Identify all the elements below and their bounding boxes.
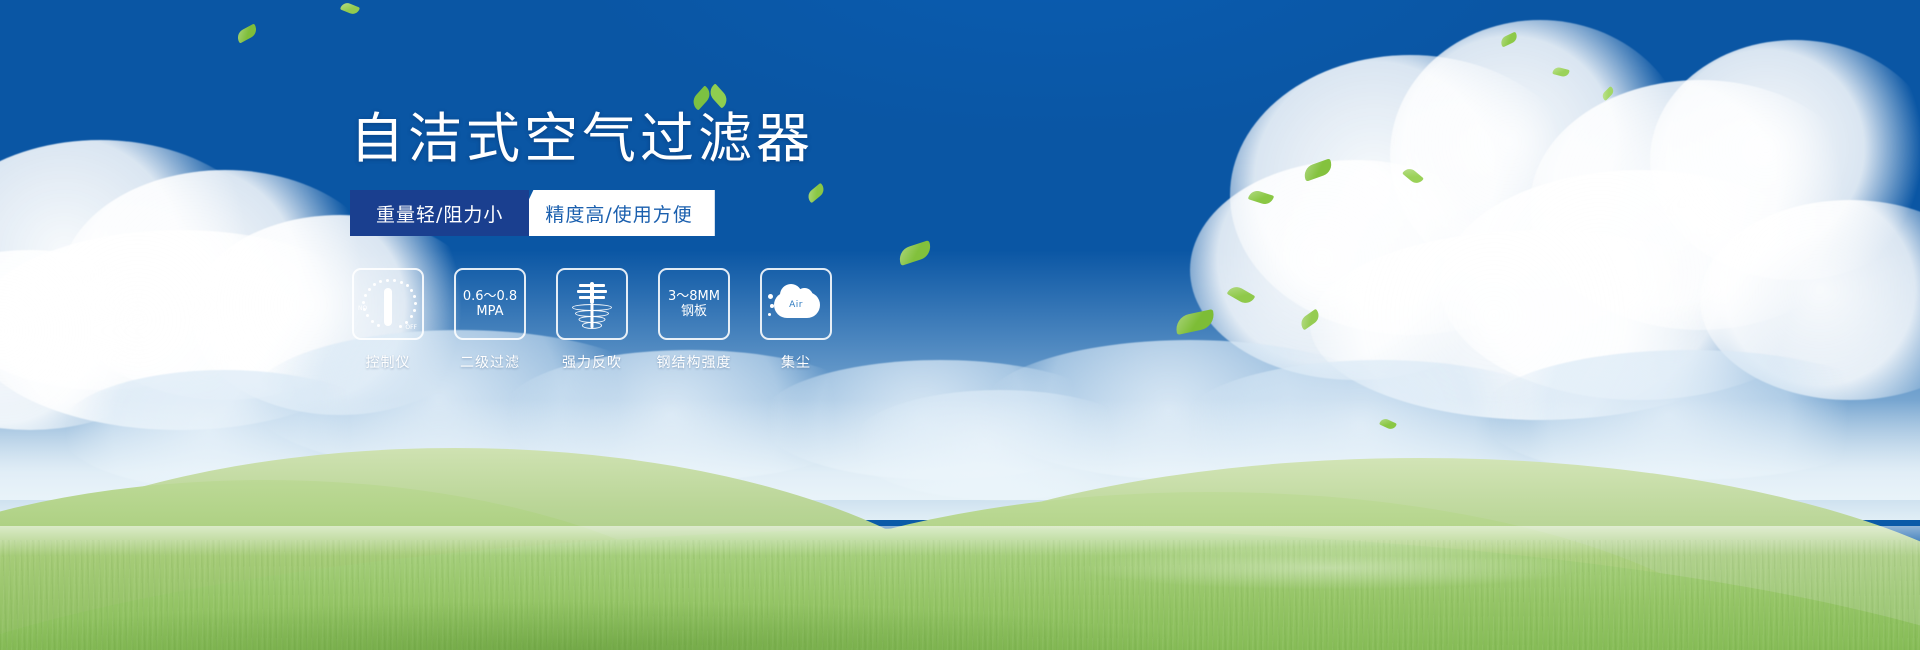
pressure-line-1: 0.6～0.8	[463, 289, 517, 304]
feature-box-blowback	[556, 268, 628, 340]
dial-label-off: OFF	[405, 324, 417, 331]
feature-box-steel: 3～8MM 钢板	[658, 268, 730, 340]
title-leaf-right-icon	[706, 83, 730, 108]
feature-label-steel: 钢结构强度	[657, 352, 732, 372]
page-title: 自洁式空气过滤器	[350, 112, 814, 166]
feature-box-dustcollection: Air	[760, 268, 832, 340]
feature-label-blowback: 强力反吹	[562, 352, 622, 372]
tab-lightweight-lowresistance[interactable]: 重量轻/阻力小	[350, 190, 529, 236]
feature-icon-row: NO OFF 控制仪 0.6～0.8 MPA 二级过滤	[352, 268, 832, 372]
blowback-icon	[566, 278, 618, 330]
feature-label-dustcollection: 集尘	[781, 352, 811, 372]
feature-item-dustcollection[interactable]: Air 集尘	[760, 268, 832, 372]
feature-box-control: NO OFF	[352, 268, 424, 340]
control-dial-icon: NO OFF	[359, 275, 417, 333]
feature-item-filtration[interactable]: 0.6～0.8 MPA 二级过滤	[454, 268, 526, 372]
steel-plate-text-icon: 3～8MM 钢板	[668, 289, 720, 319]
feature-item-control[interactable]: NO OFF 控制仪	[352, 268, 424, 372]
feature-box-filtration: 0.6～0.8 MPA	[454, 268, 526, 340]
feature-item-steel[interactable]: 3～8MM 钢板 钢结构强度	[658, 268, 730, 372]
air-cloud-label: Air	[768, 300, 824, 310]
pressure-line-2: MPA	[463, 304, 517, 319]
feature-item-blowback[interactable]: 强力反吹	[556, 268, 628, 372]
feature-tabs: 重量轻/阻力小 精度高/使用方便	[350, 190, 715, 236]
feature-label-filtration: 二级过滤	[460, 352, 520, 372]
pressure-text-icon: 0.6～0.8 MPA	[463, 289, 517, 319]
promotional-banner: 自洁式空气过滤器 重量轻/阻力小 精度高/使用方便	[0, 0, 1920, 650]
air-cloud-icon: Air	[768, 282, 824, 326]
steel-line-1: 3～8MM	[668, 289, 720, 304]
feature-label-control: 控制仪	[366, 352, 411, 372]
dial-label-on: NO	[358, 305, 367, 312]
steel-line-2: 钢板	[668, 304, 720, 319]
tab-highprecision-easyuse[interactable]: 精度高/使用方便	[511, 190, 714, 236]
